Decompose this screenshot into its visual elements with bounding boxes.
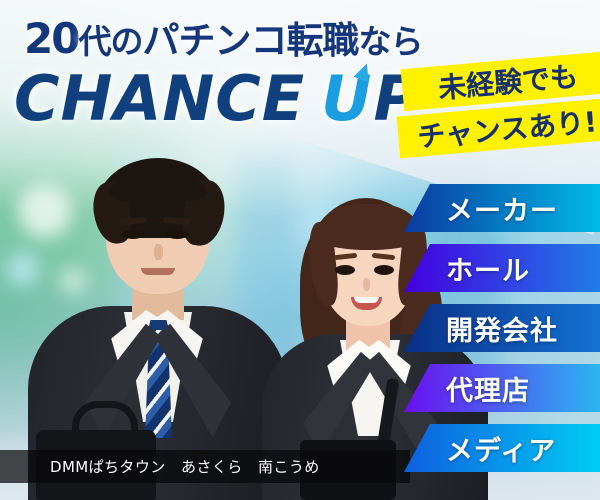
category-item-agency[interactable]: 代理店 [404,364,600,412]
category-item-media[interactable]: メディア [404,424,600,472]
logo-word-chance: CHANCE [14,68,305,130]
recruitment-banner[interactable]: 20代のパチンコ転職なら CHANCE U P 未経験でも チャンスあり! メー… [0,0,600,500]
chance-up-logo: CHANCE U P [14,68,419,130]
headline-line-1: 20代のパチンコ転職なら [24,18,422,60]
category-item-hall[interactable]: ホール [404,244,600,292]
headline-part-3: なら [358,22,422,61]
headline-number: 20 [24,14,78,63]
category-label-media: メディア [404,429,556,468]
category-label-maker: メーカー [404,189,558,228]
category-label-hall: ホール [404,249,530,288]
category-item-development[interactable]: 開発会社 [404,304,600,352]
category-item-maker[interactable]: メーカー [404,184,600,232]
logo-letter-u-wrapper: U [321,68,371,130]
headline-part-1: 代の [78,22,142,61]
headline-part-2: パチンコ転職 [142,19,358,62]
category-label-agency: 代理店 [404,369,530,408]
category-label-development: 開発会社 [404,309,558,348]
